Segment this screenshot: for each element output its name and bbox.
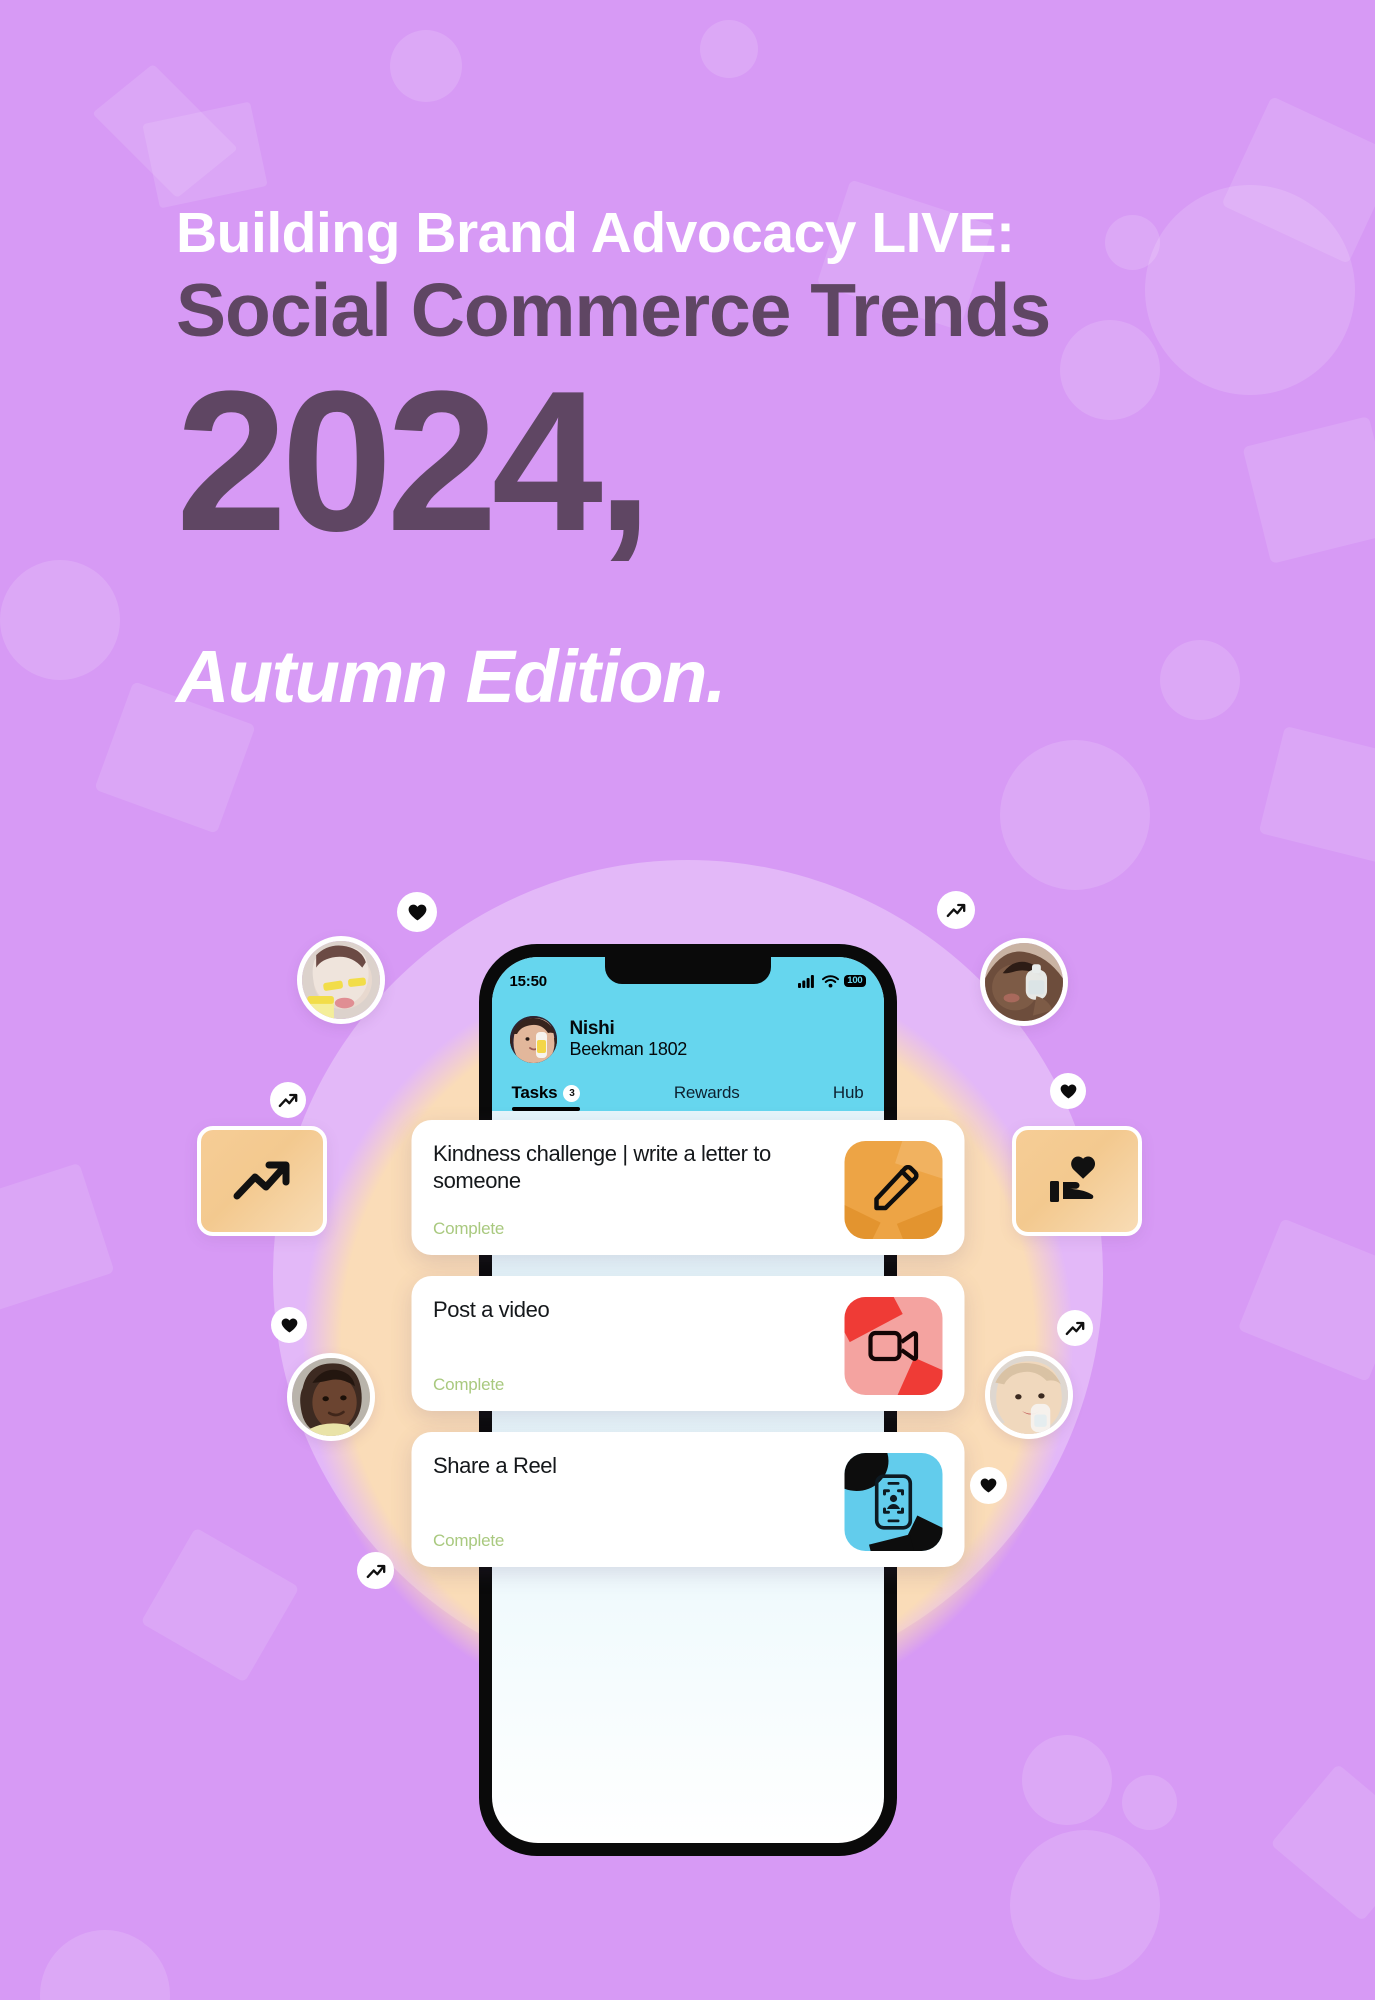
tab-rewards[interactable]: Rewards bbox=[674, 1083, 740, 1111]
task-status: Complete bbox=[433, 1219, 830, 1239]
badge-trending-top-right bbox=[937, 891, 975, 929]
tab-tasks-badge: 3 bbox=[563, 1085, 580, 1102]
tab-tasks-label: Tasks bbox=[512, 1083, 558, 1103]
creator-avatar-3 bbox=[292, 1358, 370, 1436]
tab-tasks[interactable]: Tasks 3 bbox=[512, 1083, 581, 1111]
headline-line-4: Autumn Edition. bbox=[176, 640, 725, 714]
badge-heart-top-left bbox=[397, 892, 437, 932]
bubble-shape bbox=[700, 20, 758, 78]
task-status: Complete bbox=[433, 1375, 830, 1395]
bubble-shape bbox=[0, 560, 120, 680]
trending-up-icon bbox=[278, 1092, 298, 1108]
task-icon-tile[interactable] bbox=[844, 1297, 942, 1395]
badge-trending-bottom-left bbox=[357, 1552, 394, 1589]
heart-icon bbox=[1060, 1084, 1077, 1099]
phone-notch bbox=[605, 957, 771, 984]
profile-text: Nishi Beekman 1802 bbox=[570, 1018, 688, 1061]
badge-trending-lower-right bbox=[1057, 1310, 1093, 1346]
heart-icon bbox=[980, 1478, 997, 1493]
battery-indicator: 100 bbox=[844, 975, 865, 987]
user-avatar bbox=[510, 1016, 557, 1063]
pencil-icon bbox=[868, 1165, 918, 1215]
creator-avatar-2 bbox=[985, 943, 1063, 1021]
headline-line-3: 2024, bbox=[176, 380, 1326, 544]
task-icon-tile[interactable] bbox=[844, 1141, 942, 1239]
orbit-card-advocacy[interactable] bbox=[1012, 1126, 1142, 1236]
task-status: Complete bbox=[433, 1531, 830, 1551]
trending-up-icon bbox=[946, 902, 966, 918]
video-camera-icon bbox=[867, 1326, 919, 1366]
trending-up-icon bbox=[366, 1563, 386, 1579]
heart-icon bbox=[281, 1318, 298, 1333]
status-indicators: 100 bbox=[798, 974, 865, 988]
task-title: Share a Reel bbox=[433, 1453, 830, 1480]
task-title: Post a video bbox=[433, 1297, 830, 1324]
tab-rewards-label: Rewards bbox=[674, 1083, 740, 1102]
task-card-body: Kindness challenge | write a letter to s… bbox=[433, 1141, 830, 1239]
task-title: Kindness challenge | write a letter to s… bbox=[433, 1141, 830, 1195]
task-card-body: Share a Reel Complete bbox=[433, 1453, 830, 1551]
trending-up-icon bbox=[1065, 1320, 1085, 1336]
badge-heart-bottom-right bbox=[970, 1467, 1007, 1504]
trending-up-icon bbox=[231, 1156, 293, 1207]
device-stage: 15:50 bbox=[0, 830, 1375, 2000]
bubble-shape bbox=[390, 30, 462, 102]
profile-brand: Beekman 1802 bbox=[570, 1039, 688, 1061]
orbit-avatar-bottom-left[interactable] bbox=[287, 1353, 375, 1441]
creator-avatar-1 bbox=[302, 941, 380, 1019]
task-icon-tile[interactable] bbox=[844, 1453, 942, 1551]
headline-line-1: Building Brand Advocacy LIVE: bbox=[176, 205, 1326, 262]
wifi-icon bbox=[822, 975, 839, 988]
badge-heart-mid-right bbox=[1050, 1073, 1086, 1109]
hand-holding-heart-icon bbox=[1046, 1153, 1108, 1210]
task-card-list: Kindness challenge | write a letter to s… bbox=[411, 1120, 964, 1567]
badge-heart-lower-left bbox=[271, 1307, 307, 1343]
bubble-shape bbox=[1160, 640, 1240, 720]
badge-trending-mid-left bbox=[270, 1082, 306, 1118]
profile-name: Nishi bbox=[570, 1018, 688, 1039]
orbit-avatar-top-left[interactable] bbox=[297, 936, 385, 1024]
orbit-card-trending[interactable] bbox=[197, 1126, 327, 1236]
orbit-avatar-top-right[interactable] bbox=[980, 938, 1068, 1026]
task-card-body: Post a video Complete bbox=[433, 1297, 830, 1395]
tab-hub-label: Hub bbox=[833, 1083, 864, 1102]
task-card[interactable]: Post a video Complete bbox=[411, 1276, 964, 1411]
task-card[interactable]: Share a Reel Complete bbox=[411, 1432, 964, 1567]
tab-bar: Tasks 3 Rewards Hub bbox=[510, 1079, 866, 1111]
task-card[interactable]: Kindness challenge | write a letter to s… bbox=[411, 1120, 964, 1255]
creator-avatar-4 bbox=[990, 1356, 1068, 1434]
poster-headline: Building Brand Advocacy LIVE: Social Com… bbox=[176, 205, 1326, 544]
cellular-signal-icon bbox=[798, 974, 817, 988]
tab-hub[interactable]: Hub bbox=[833, 1083, 864, 1111]
avatar[interactable] bbox=[510, 1016, 557, 1063]
poster-canvas: Building Brand Advocacy LIVE: Social Com… bbox=[0, 0, 1375, 2000]
headline-line-2: Social Commerce Trends bbox=[176, 262, 1326, 358]
tile-accent-shape bbox=[869, 1534, 918, 1551]
status-time: 15:50 bbox=[510, 973, 547, 990]
heart-icon bbox=[408, 904, 427, 921]
phone-portrait-icon bbox=[874, 1474, 912, 1530]
orbit-avatar-bottom-right[interactable] bbox=[985, 1351, 1073, 1439]
profile-row[interactable]: Nishi Beekman 1802 bbox=[510, 994, 866, 1079]
